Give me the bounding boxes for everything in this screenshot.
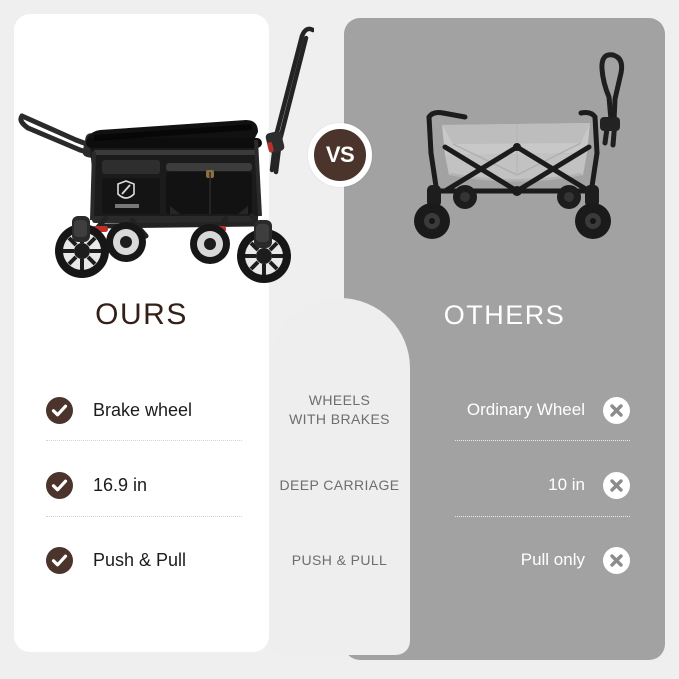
others-feature-value: Pull only — [521, 550, 585, 570]
center-label-line-2: WITH BRAKES — [289, 411, 390, 427]
others-feature-value: 10 in — [548, 475, 585, 495]
others-feature-value: Ordinary Wheel — [467, 400, 585, 420]
center-feature-label: DEEP CARRIAGE — [269, 448, 410, 522]
check-circle-icon — [46, 397, 73, 424]
feature-row: Push & Pull PUSH & PULL Pull only — [0, 523, 679, 597]
vs-label: VS — [326, 142, 354, 168]
ours-product-image — [14, 20, 314, 290]
others-product-image — [405, 25, 670, 280]
x-circle-icon — [603, 397, 630, 424]
x-circle-icon — [603, 472, 630, 499]
ours-feature-cell: Brake wheel — [46, 373, 256, 447]
check-circle-icon — [46, 472, 73, 499]
feature-row: Brake wheel WHEELS WITH BRAKES Ordinary … — [0, 373, 679, 447]
ours-feature-value: Brake wheel — [93, 400, 192, 421]
others-feature-cell: 10 in — [425, 448, 630, 522]
check-circle-icon — [46, 547, 73, 574]
feature-row: 16.9 in DEEP CARRIAGE 10 in — [0, 448, 679, 522]
x-circle-icon — [603, 547, 630, 574]
ours-feature-value: Push & Pull — [93, 550, 186, 571]
center-label-line-1: PUSH & PULL — [292, 551, 387, 570]
others-feature-cell: Pull only — [425, 523, 630, 597]
ours-feature-value: 16.9 in — [93, 475, 147, 496]
ours-feature-cell: 16.9 in — [46, 448, 256, 522]
center-feature-label: PUSH & PULL — [269, 523, 410, 597]
others-feature-cell: Ordinary Wheel — [425, 373, 630, 447]
comparison-infographic: OURS — [0, 0, 679, 679]
ours-heading: OURS — [14, 298, 269, 332]
vs-badge: VS — [308, 123, 372, 187]
center-feature-label: WHEELS WITH BRAKES — [269, 373, 410, 447]
center-label-line-1: DEEP CARRIAGE — [279, 476, 399, 495]
center-label-line-1: WHEELS — [309, 392, 371, 408]
ours-feature-cell: Push & Pull — [46, 523, 256, 597]
